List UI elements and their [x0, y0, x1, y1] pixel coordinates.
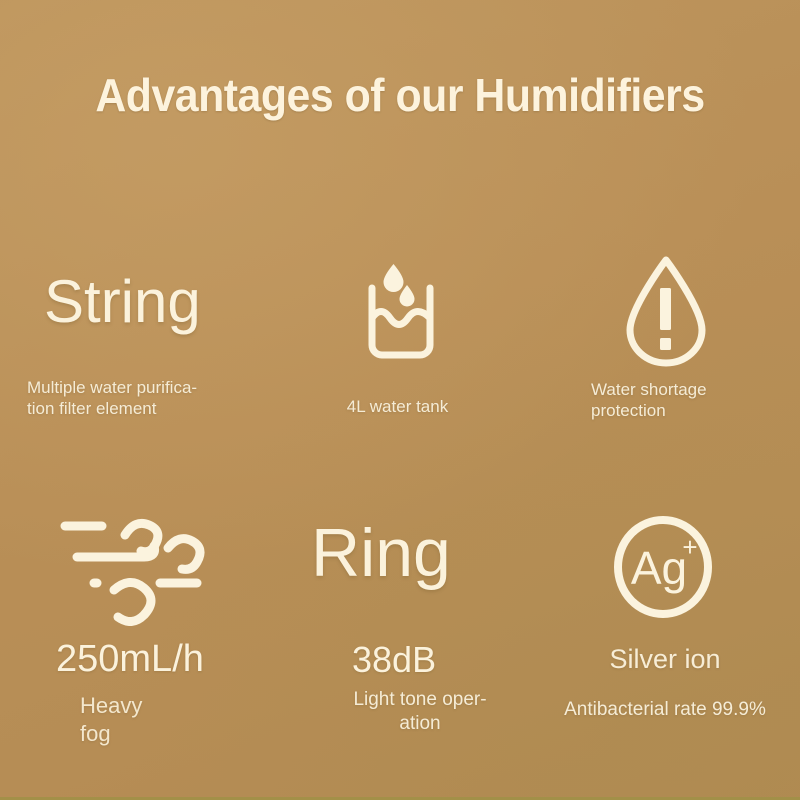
feature-silver-ion-headline: Silver ion — [545, 645, 785, 675]
silver-ion-icon: Ag + — [607, 512, 719, 624]
feature-heavy-fog-caption: Heavy fog — [80, 692, 142, 747]
water-tank-icon — [348, 252, 448, 364]
feature-heavy-fog-headline: 250mL/h — [56, 640, 204, 680]
feature-silver-ion-caption: Antibacterial rate 99.9% — [535, 698, 795, 722]
feature-light-tone-caption-line2: ation — [330, 712, 510, 736]
wind-mist-icon — [56, 506, 222, 626]
water-drop-warning-icon — [614, 250, 718, 370]
feature-filter-headline: String — [44, 272, 201, 332]
silver-ion-icon-superscript: + — [682, 532, 697, 562]
feature-water-tank-caption: 4L water tank — [290, 396, 505, 417]
silver-ion-icon-label: Ag — [631, 542, 687, 594]
feature-light-tone-value: 38dB — [352, 641, 436, 679]
feature-water-shortage-caption: Water shortage protection — [591, 379, 800, 422]
feature-light-tone-caption: Light tone oper- ation — [330, 688, 510, 736]
feature-light-tone-headline: Ring — [311, 519, 451, 587]
feature-filter-caption-line1: Multiple water purifica- — [27, 377, 267, 398]
feature-water-shortage-caption-line2: protection — [591, 400, 800, 421]
feature-light-tone-caption-line1: Light tone oper- — [330, 688, 510, 712]
humidifier-advantages-poster: Advantages of our Humidifiers String Mul… — [0, 0, 800, 800]
feature-filter-caption: Multiple water purifica- tion filter ele… — [27, 377, 267, 420]
feature-water-shortage-caption-line1: Water shortage — [591, 379, 800, 400]
features-grid: String Multiple water purifica- tion fil… — [0, 0, 800, 800]
feature-filter-caption-line2: tion filter element — [27, 398, 267, 419]
